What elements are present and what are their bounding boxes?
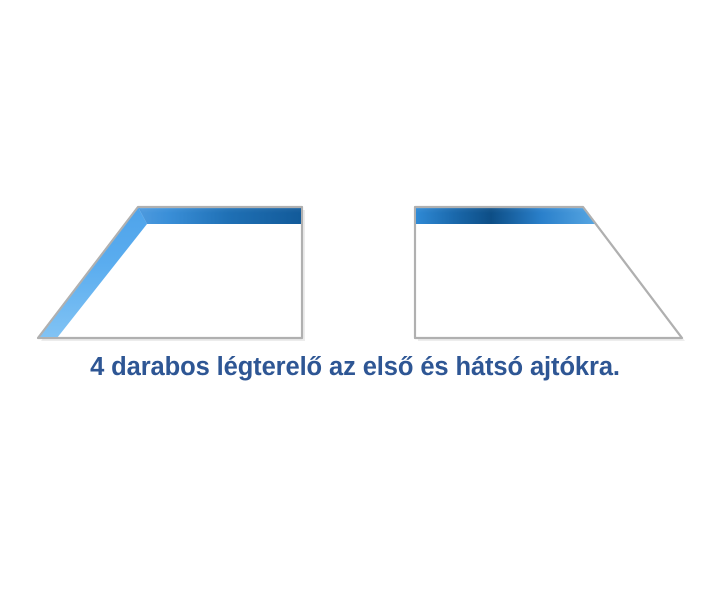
left-deflector-group — [38, 207, 305, 341]
left-deflector-body — [38, 207, 302, 338]
right-deflector-body — [415, 207, 682, 338]
wind-deflector-diagram — [0, 0, 710, 613]
product-illustration-canvas: 4 darabos légterelő az első és hátsó ajt… — [0, 0, 710, 613]
product-caption: 4 darabos légterelő az első és hátsó ajt… — [0, 352, 710, 382]
right-deflector-group — [415, 207, 685, 341]
